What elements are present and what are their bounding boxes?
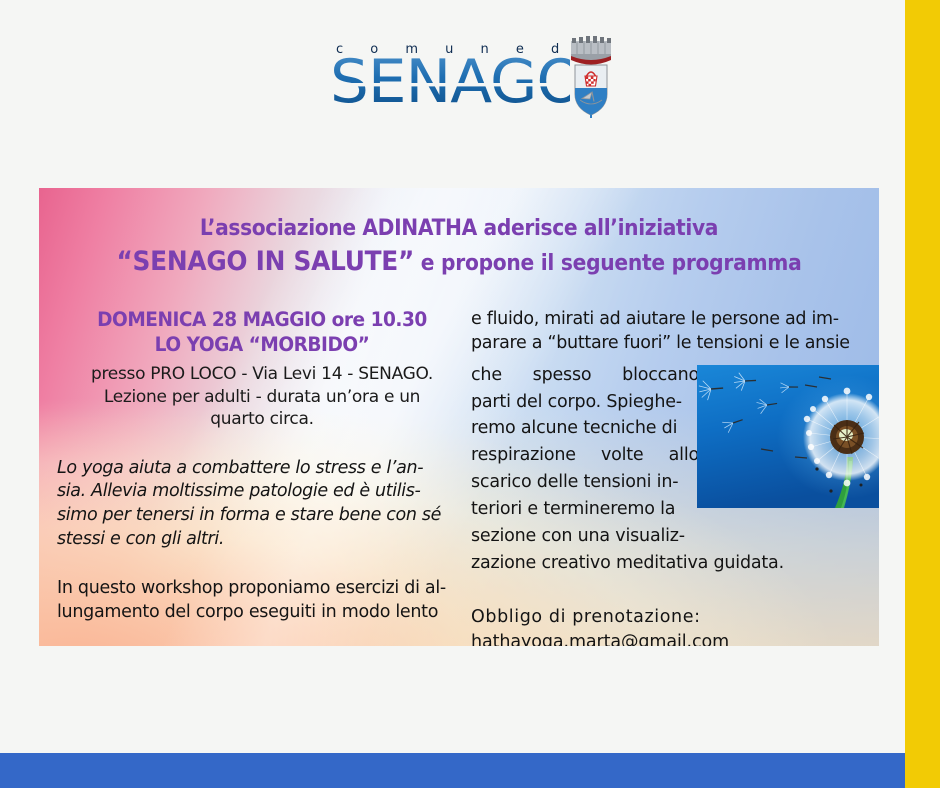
paragraph-word: che (471, 362, 502, 389)
paragraph-line: parare a “buttare fuori” le tensioni e l… (471, 332, 863, 356)
event-title: LO YOGA “MORBIDO” (67, 333, 457, 356)
paragraph-line: scarico delle tensioni in- (471, 469, 699, 496)
paragraph-word: respirazione (471, 442, 576, 469)
event-venue-details: presso PRO LOCO - Via Levi 14 - SENAGO. … (57, 363, 467, 431)
venue-line: quarto circa. (57, 408, 467, 431)
venue-line: presso PRO LOCO - Via Levi 14 - SENAGO. (57, 363, 467, 386)
booking-label: Obbligo di prenotazione: (471, 605, 863, 630)
bottom-blue-bar (0, 753, 905, 788)
senago-coat-of-arms-icon (568, 36, 614, 120)
dandelion-photo (697, 365, 879, 508)
paragraph-word: bloccano (622, 362, 699, 389)
paragraph-line: sezione con una visualiz- (471, 523, 699, 550)
headline-line-2-rest: e propone il seguente programma (414, 251, 801, 276)
paragraph-line: teriori e termineremo la (471, 496, 699, 523)
workshop-description-paragraph: In questo workshop proponiamo esercizi d… (57, 577, 467, 625)
poster-left-column: DOMENICA 28 MAGGIO ore 10.30 LO YOGA “MO… (57, 308, 467, 625)
paragraph-word: allo (669, 442, 699, 469)
page-root: c o m u n e d i SENAGO (0, 0, 940, 788)
headline-line-2: “SENAGO IN SALUTE” e propone il seguente… (73, 246, 846, 278)
paragraph-line: e fluido, mirati ad aiutare le persone a… (471, 308, 863, 332)
paragraph-line: In questo workshop proponiamo esercizi d… (57, 577, 467, 601)
booking-email[interactable]: hathayoga.marta@gmail.com (471, 630, 863, 646)
paragraph-line: Lo yoga aiuta a combattere lo stress e l… (57, 457, 467, 481)
headline-line-1: L’associazione ADINATHA aderisce all’ini… (73, 216, 846, 242)
workshop-description-continued: e fluido, mirati ad aiutare le persone a… (471, 308, 863, 356)
paragraph-word: spesso (533, 362, 592, 389)
paragraph-line: che spesso bloccano (471, 362, 699, 389)
paragraph-line: sia. Allevia moltissime patologie ed è u… (57, 480, 467, 504)
paragraph-line: lungamento del corpo eseguiti in modo le… (57, 601, 467, 625)
paragraph-line: respirazione volte allo (471, 442, 699, 469)
event-poster: L’associazione ADINATHA aderisce all’ini… (39, 188, 879, 646)
breathing-techniques-paragraph: che spesso bloccano parti del corpo. Spi… (471, 362, 699, 551)
event-date-time: DOMENICA 28 MAGGIO ore 10.30 (67, 308, 457, 331)
paragraph-line: stessi e con gli altri. (57, 528, 467, 552)
paragraph-line: remo alcune tecniche di (471, 415, 699, 442)
poster-headline: L’associazione ADINATHA aderisce all’ini… (39, 216, 879, 278)
venue-line: Lezione per adulti - durata un’ora e un (57, 386, 467, 409)
paragraph-line: simo per tenersi in forma e stare bene c… (57, 504, 467, 528)
comune-di-senago-logo: c o m u n e d i SENAGO (330, 36, 615, 120)
yoga-benefits-paragraph: Lo yoga aiuta a combattere lo stress e l… (57, 457, 467, 552)
booking-info: Obbligo di prenotazione: hathayoga.marta… (471, 605, 863, 646)
right-yellow-bar (905, 0, 940, 788)
logo-wordmark-senago: SENAGO (330, 52, 570, 114)
paragraph-line: parti del corpo. Spieghe- (471, 389, 699, 416)
paragraph-word: volte (601, 442, 644, 469)
headline-title-quoted: “SENAGO IN SALUTE” (117, 246, 415, 277)
paragraph-line: zazione creativo meditativa guidata. (471, 550, 863, 577)
